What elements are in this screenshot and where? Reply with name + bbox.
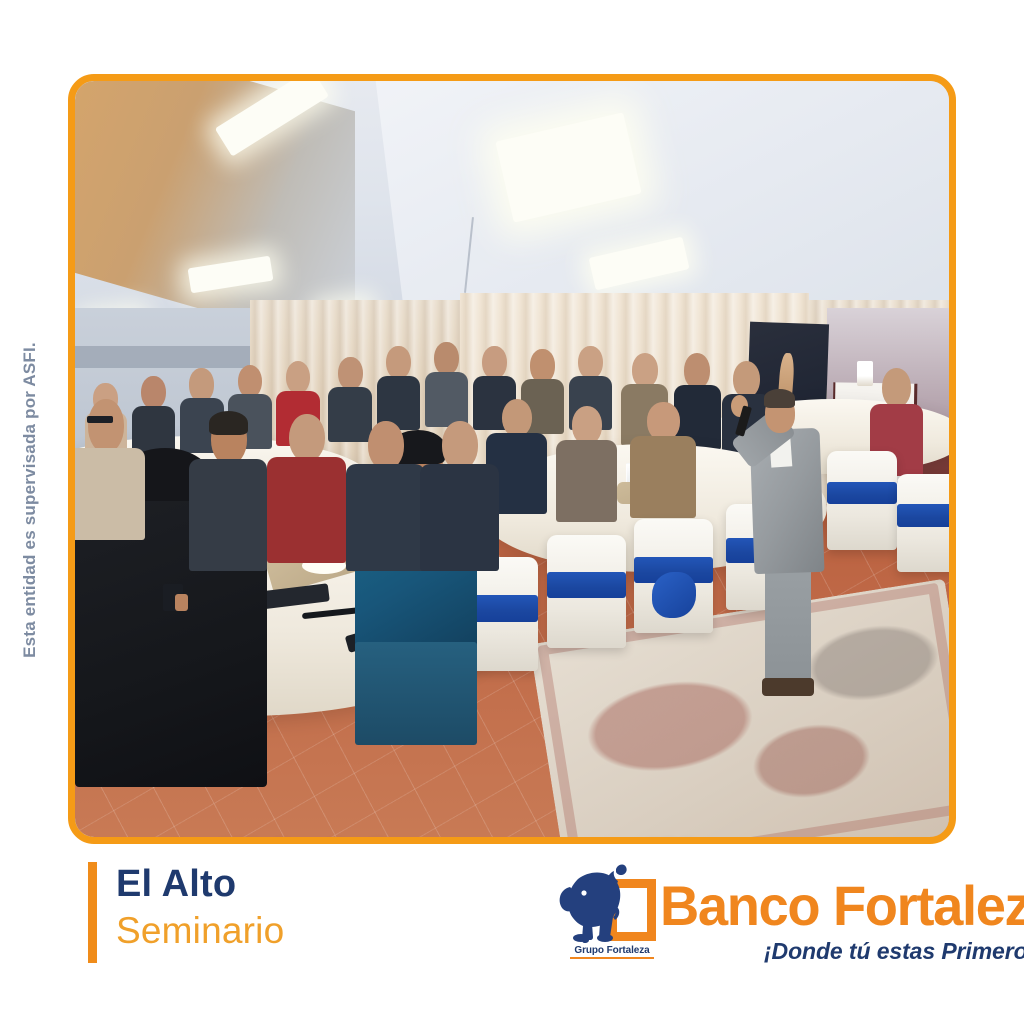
speaker-hair [764, 389, 795, 407]
audience-person [425, 342, 469, 425]
chair-bow [652, 572, 696, 617]
audience-person [420, 421, 499, 565]
group-label: Grupo Fortaleza [570, 945, 654, 959]
event-photo-frame: Análisis de la coyuntura política y su p… [68, 74, 956, 844]
brand-name: Banco Fortaleza [660, 873, 1024, 938]
asfi-note-text: Esta entidad es supervisada por ASFI. [20, 320, 40, 680]
footer-accent-bar [88, 862, 97, 963]
seminar-audience-photo: Análisis de la coyuntura política y su p… [75, 81, 949, 837]
speaker-legs [765, 557, 810, 686]
elephant-icon [554, 861, 640, 943]
bank-logo[interactable]: Grupo Fortaleza Banco Fortaleza ¡Donde t… [552, 857, 982, 977]
poster-canvas: Esta entidad es supervisada por ASFI. [0, 0, 1024, 1024]
audience-person [630, 402, 696, 515]
audience-person [377, 346, 421, 429]
audience-person [556, 406, 617, 519]
chair-sash [827, 482, 897, 505]
chair-sash [547, 572, 626, 598]
audience-person [267, 414, 346, 558]
event-type: Seminario [116, 910, 284, 952]
brand-tagline: ¡Donde tú estas Primero! [764, 938, 1024, 965]
logo-mark: Grupo Fortaleza [552, 857, 656, 961]
audience-person [346, 421, 425, 565]
audience-person [75, 399, 145, 535]
footer-bar: El Alto Seminario [0, 845, 1024, 1024]
event-city: El Alto [116, 863, 236, 906]
chair-sash [897, 504, 949, 527]
speaker-shoes [762, 678, 814, 696]
audience-person [189, 414, 268, 565]
